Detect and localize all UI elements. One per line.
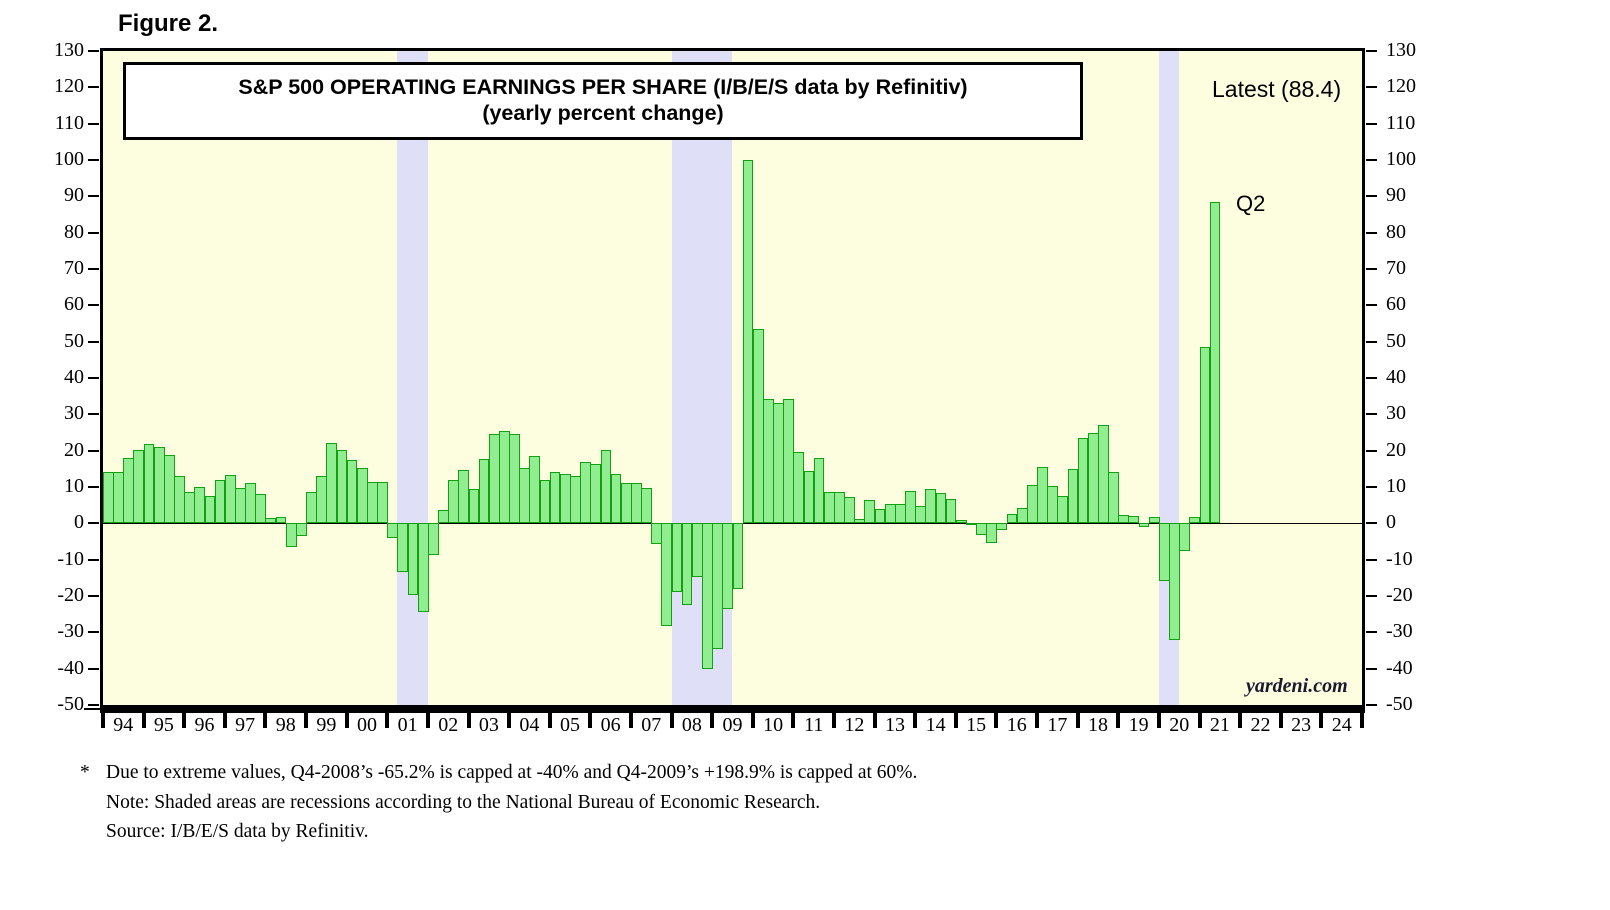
x-axis-line — [100, 708, 1365, 713]
chart-bar — [489, 434, 500, 523]
x-axis-tick-label: 24 — [1320, 714, 1364, 737]
y-axis-tick-label: 110 — [24, 113, 84, 133]
chart-bar — [824, 492, 835, 524]
x-axis-tick-mark — [1360, 713, 1364, 728]
chart-bar — [580, 462, 591, 524]
y-axis-tick-label: 0 — [1386, 512, 1396, 532]
y-axis-tick-mark — [1366, 159, 1377, 161]
y-axis-tick-mark — [1366, 486, 1377, 488]
y-axis-tick-label: -40 — [1386, 658, 1413, 678]
x-axis-tick-label: 14 — [914, 714, 958, 737]
y-axis-tick-label: 50 — [24, 331, 84, 351]
chart-bar — [712, 523, 723, 648]
x-axis-tick-label: 07 — [629, 714, 673, 737]
y-axis-tick-mark — [1366, 704, 1377, 706]
x-axis-tick-label: 18 — [1076, 714, 1120, 737]
y-axis-tick-label: 0 — [24, 512, 84, 532]
chart-bar — [245, 483, 256, 523]
y-axis-tick-mark — [88, 341, 99, 343]
chart-bar — [479, 459, 490, 524]
y-axis-tick-mark — [1366, 668, 1377, 670]
chart-bar — [631, 483, 642, 524]
y-axis-tick-label: 40 — [1386, 367, 1406, 387]
footnote-line-3: Source: I/B/E/S data by Refinitiv. — [106, 817, 1380, 847]
y-axis-tick-mark — [88, 631, 99, 633]
chart-bar — [590, 464, 601, 523]
chart-bar — [397, 523, 408, 572]
y-axis-tick-label: 10 — [1386, 476, 1406, 496]
chart-bar — [123, 458, 134, 523]
x-axis-tick-label: 13 — [873, 714, 917, 737]
chart-bar — [296, 523, 307, 536]
x-axis-tick-label: 22 — [1238, 714, 1282, 737]
chart-bar — [895, 504, 906, 524]
chart-bar — [1210, 202, 1221, 523]
y-axis-tick-label: -10 — [24, 549, 84, 569]
chart-bar — [763, 399, 774, 523]
chart-bar — [265, 518, 276, 523]
chart-bar — [864, 500, 875, 523]
y-axis-tick-mark — [88, 522, 99, 524]
x-axis-tick-label: 16 — [995, 714, 1039, 737]
chart-bar — [326, 443, 337, 523]
y-axis-tick-mark — [88, 304, 99, 306]
y-axis-tick-label: -10 — [1386, 549, 1413, 569]
y-axis-tick-label: -20 — [1386, 585, 1413, 605]
chart-bar — [996, 523, 1007, 530]
chart-bars-layer — [103, 51, 1362, 705]
y-axis-tick-mark — [88, 123, 99, 125]
chart-bar — [682, 523, 693, 605]
y-axis-tick-label: 80 — [1386, 222, 1406, 242]
x-axis-tick-label: 96 — [183, 714, 227, 737]
chart-bar — [976, 523, 987, 535]
y-axis-tick-mark — [88, 413, 99, 415]
y-axis-tick-label: -20 — [24, 585, 84, 605]
chart-bar — [377, 482, 388, 523]
chart-bar — [661, 523, 672, 626]
y-axis-tick-mark — [88, 377, 99, 379]
x-axis-tick-label: 00 — [345, 714, 389, 737]
x-axis-tick-label: 19 — [1117, 714, 1161, 737]
y-axis-tick-label: -50 — [1386, 694, 1413, 714]
chart-bar — [722, 523, 733, 608]
y-axis-tick-mark — [88, 668, 99, 670]
y-axis-tick-label: -40 — [24, 658, 84, 678]
y-axis-tick-label: -30 — [1386, 621, 1413, 641]
y-axis-tick-label: -30 — [24, 621, 84, 641]
chart-bar — [1037, 467, 1048, 523]
x-axis-tick-label: 02 — [426, 714, 470, 737]
chart-bar — [306, 492, 317, 523]
y-axis-tick-label: 70 — [1386, 258, 1406, 278]
x-axis-tick-label: 08 — [670, 714, 714, 737]
y-axis-tick-mark — [1366, 413, 1377, 415]
chart-bar — [641, 488, 652, 524]
chart-bar — [387, 523, 398, 538]
chart-bar — [905, 491, 916, 523]
chart-bar — [255, 494, 266, 523]
y-axis-tick-label: 120 — [1386, 76, 1416, 96]
y-axis-tick-label: 90 — [24, 185, 84, 205]
y-axis-tick-mark — [1366, 450, 1377, 452]
x-axis-tick-label: 98 — [264, 714, 308, 737]
y-axis-tick-label: 110 — [1386, 113, 1415, 133]
chart-bar — [194, 487, 205, 523]
footnotes: * Due to extreme values, Q4-2008’s -65.2… — [80, 758, 1380, 847]
chart-bar — [215, 480, 226, 523]
footnote-line-1: Due to extreme values, Q4-2008’s -65.2% … — [106, 758, 1380, 788]
chart-bar — [316, 476, 327, 523]
x-axis-tick-label: 06 — [589, 714, 633, 737]
chart-bar — [875, 509, 886, 524]
y-axis-tick-label: 20 — [24, 440, 84, 460]
y-axis-tick-mark — [88, 50, 99, 52]
y-axis-tick-mark — [88, 450, 99, 452]
y-axis-tick-mark — [88, 595, 99, 597]
x-axis-tick-label: 97 — [223, 714, 267, 737]
y-axis-tick-mark — [1366, 341, 1377, 343]
y-axis-tick-mark — [1366, 195, 1377, 197]
chart-bar — [1068, 469, 1079, 524]
x-axis-tick-label: 01 — [386, 714, 430, 737]
y-axis-tick-mark — [1366, 232, 1377, 234]
y-axis-tick-mark — [1366, 50, 1377, 52]
chart-bar — [885, 504, 896, 523]
x-axis-tick-label: 09 — [711, 714, 755, 737]
y-axis-tick-label: 30 — [24, 403, 84, 423]
chart-bar — [458, 470, 469, 524]
chart-bar — [448, 480, 459, 523]
chart-bar — [793, 452, 804, 524]
y-axis-tick-mark — [1366, 123, 1377, 125]
chart-bar — [550, 472, 561, 523]
chart-bar — [1169, 523, 1180, 640]
x-axis-tick-label: 21 — [1198, 714, 1242, 737]
x-axis-tick-label: 03 — [467, 714, 511, 737]
y-axis-tick-mark — [1366, 559, 1377, 561]
chart-bar — [773, 403, 784, 523]
y-axis-tick-mark — [88, 86, 99, 88]
chart-bar — [408, 523, 419, 595]
chart-bar — [783, 399, 794, 523]
chart-bar — [672, 523, 683, 592]
chart-bar — [753, 329, 764, 523]
chart-bar — [438, 510, 449, 524]
y-axis-tick-mark — [1366, 377, 1377, 379]
chart-bar — [113, 472, 124, 524]
chart-bar — [956, 520, 967, 524]
chart-bar — [1017, 508, 1028, 523]
chart-bar — [418, 523, 429, 611]
chart-bar — [1108, 472, 1119, 524]
chart-bar — [1159, 523, 1170, 580]
chart-bar — [509, 434, 520, 523]
x-axis-tick-label: 15 — [954, 714, 998, 737]
chart-bar — [1189, 517, 1200, 523]
chart-bar — [540, 480, 551, 524]
y-axis-tick-label: 80 — [24, 222, 84, 242]
y-axis-tick-mark — [88, 232, 99, 234]
x-axis-tick-label: 05 — [548, 714, 592, 737]
footnote-line-2: Note: Shaded areas are recessions accord… — [106, 788, 1380, 818]
y-axis-tick-label: 100 — [1386, 149, 1416, 169]
figure-root: Figure 2. 130120110100908070605040302010… — [0, 0, 1610, 910]
y-axis-tick-label: 100 — [24, 149, 84, 169]
chart-bar — [601, 450, 612, 523]
figure-label: Figure 2. — [118, 10, 218, 38]
chart-bar — [804, 471, 815, 524]
chart-bar — [743, 160, 754, 523]
chart-bar — [529, 456, 540, 523]
chart-bar — [205, 496, 216, 524]
watermark-yardeni: yardeni.com — [1246, 675, 1348, 698]
chart-bar — [611, 474, 622, 523]
chart-bar — [915, 506, 926, 523]
chart-bar — [1200, 347, 1211, 523]
chart-bar — [570, 476, 581, 523]
chart-bar — [184, 492, 195, 523]
chart-bar — [1057, 496, 1068, 523]
chart-bar — [1128, 516, 1139, 523]
x-axis-tick-label: 11 — [792, 714, 836, 737]
chart-bar — [1088, 433, 1099, 524]
chart-bar — [519, 468, 530, 524]
y-axis-tick-mark — [1366, 522, 1377, 524]
chart-bar — [733, 523, 744, 588]
y-axis-tick-label: 30 — [1386, 403, 1406, 423]
chart-bar — [1149, 517, 1160, 523]
x-axis-tick-label: 99 — [304, 714, 348, 737]
y-axis-tick-label: 90 — [1386, 185, 1406, 205]
y-axis-tick-mark — [1366, 268, 1377, 270]
chart-bar — [133, 450, 144, 524]
chart-bar — [164, 455, 175, 523]
chart-bar — [337, 450, 348, 523]
chart-bar — [1007, 514, 1018, 523]
y-axis-tick-label: 130 — [24, 40, 84, 60]
y-axis-tick-label: 60 — [1386, 294, 1406, 314]
chart-bar — [925, 489, 936, 524]
x-axis-tick-label: 10 — [751, 714, 795, 737]
chart-bar — [1139, 523, 1150, 527]
x-axis-tick-label: 23 — [1279, 714, 1323, 737]
chart-bar — [1098, 425, 1109, 524]
y-axis-tick-mark — [1366, 631, 1377, 633]
chart-bar — [814, 458, 825, 523]
chart-bar — [276, 517, 287, 524]
chart-bar — [621, 483, 632, 524]
y-axis-tick-mark — [1366, 304, 1377, 306]
x-axis-tick-label: 20 — [1157, 714, 1201, 737]
x-axis-tick-label: 94 — [101, 714, 145, 737]
last-bar-annotation: Q2 — [1236, 191, 1265, 217]
chart-bar — [1078, 438, 1089, 523]
chart-bar — [1118, 515, 1129, 524]
y-axis-tick-label: 60 — [24, 294, 84, 314]
chart-bar — [946, 499, 957, 524]
chart-bar — [834, 492, 845, 524]
y-axis-tick-label: 70 — [24, 258, 84, 278]
x-axis-tick-label: 17 — [1035, 714, 1079, 737]
chart-plot-area — [100, 48, 1365, 708]
chart-bar — [357, 468, 368, 523]
chart-bar — [854, 519, 865, 523]
chart-bar — [986, 523, 997, 543]
chart-bar — [651, 523, 662, 544]
y-axis-tick-label: 10 — [24, 476, 84, 496]
chart-bar — [154, 447, 165, 523]
chart-bar — [692, 523, 703, 577]
x-axis-tick-label: 95 — [142, 714, 186, 737]
y-axis-tick-mark — [88, 704, 99, 706]
chart-bar — [174, 476, 185, 523]
x-axis-left-stub — [84, 708, 101, 710]
chart-bar — [428, 523, 439, 555]
chart-bar — [235, 488, 246, 523]
chart-subtitle: (yearly percent change) — [136, 100, 1070, 126]
y-axis-tick-mark — [88, 268, 99, 270]
chart-bar — [1027, 485, 1038, 523]
chart-bar — [1179, 523, 1190, 550]
x-axis-tick-label: 04 — [507, 714, 551, 737]
chart-bar — [844, 497, 855, 524]
y-axis-tick-label: 50 — [1386, 331, 1406, 351]
y-axis-tick-mark — [1366, 595, 1377, 597]
chart-bar — [1047, 486, 1058, 523]
chart-bar — [469, 489, 480, 524]
y-axis-tick-label: 20 — [1386, 440, 1406, 460]
latest-value-annotation: Latest (88.4) — [1212, 76, 1341, 103]
y-axis-tick-mark — [88, 195, 99, 197]
y-axis-tick-mark — [88, 486, 99, 488]
chart-bar — [499, 431, 510, 523]
y-axis-tick-mark — [88, 159, 99, 161]
chart-bar — [936, 493, 947, 523]
chart-title-box: S&P 500 OPERATING EARNINGS PER SHARE (I/… — [123, 62, 1083, 140]
y-axis-tick-label: 120 — [24, 76, 84, 96]
y-axis-tick-label: -50 — [24, 694, 84, 714]
chart-bar — [144, 444, 155, 523]
chart-bar — [347, 460, 358, 523]
y-axis-tick-mark — [1366, 86, 1377, 88]
chart-bar — [286, 523, 297, 547]
y-axis-tick-mark — [88, 559, 99, 561]
chart-bar — [702, 523, 713, 668]
y-axis-tick-label: 130 — [1386, 40, 1416, 60]
chart-bar — [367, 482, 378, 523]
footnote-star: * — [80, 758, 90, 788]
chart-bar — [225, 475, 236, 523]
chart-bar — [103, 472, 114, 523]
chart-title: S&P 500 OPERATING EARNINGS PER SHARE (I/… — [136, 74, 1070, 100]
chart-bar — [560, 474, 571, 523]
chart-bar — [966, 523, 977, 525]
x-axis-tick-label: 12 — [832, 714, 876, 737]
y-axis-tick-label: 40 — [24, 367, 84, 387]
